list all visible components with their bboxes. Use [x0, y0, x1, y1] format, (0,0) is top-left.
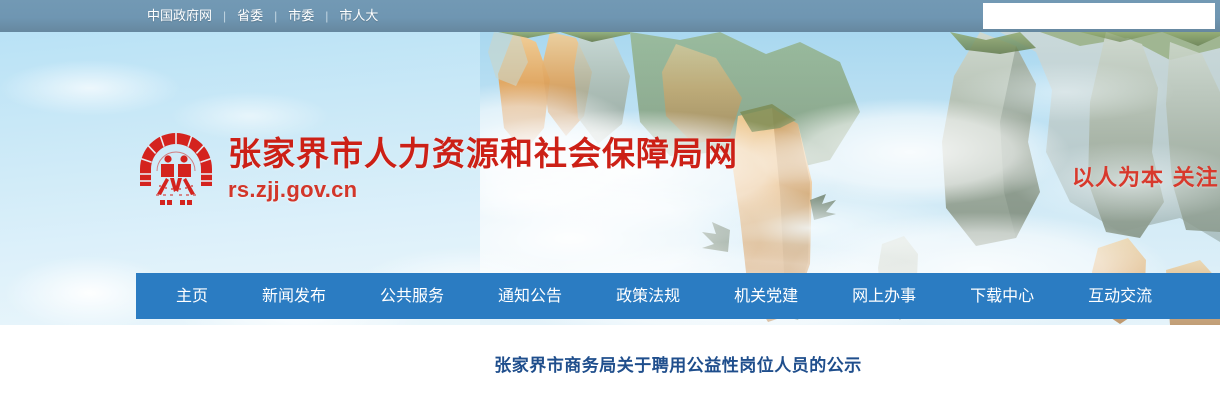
top-links-group: 中国政府网 | 省委 | 市委 | 市人大 — [136, 0, 389, 32]
main-navigation: 主页 新闻发布 公共服务 通知公告 政策法规 机关党建 网上办事 下载中心 互动… — [136, 273, 1220, 319]
brand-text-block: 张家界市人力资源和社会保障局网 rs.zjj.gov.cn — [228, 128, 738, 204]
top-link-municipal-npc[interactable]: 市人大 — [328, 0, 389, 32]
nav-item-public-service[interactable]: 公共服务 — [380, 273, 444, 319]
site-title: 张家界市人力资源和社会保障局网 — [228, 134, 738, 174]
nav-item-downloads[interactable]: 下载中心 — [970, 273, 1034, 319]
top-link-separator: | — [223, 0, 226, 32]
nav-item-party-building[interactable]: 机关党建 — [734, 273, 798, 319]
top-link-municipal-party[interactable]: 市委 — [277, 0, 325, 32]
nav-item-policies[interactable]: 政策法规 — [616, 273, 680, 319]
site-domain: rs.zjj.gov.cn — [228, 176, 738, 204]
content-panel: 张家界市商务局关于聘用公益性岗位人员的公示 — [136, 325, 1220, 400]
top-link-separator: | — [325, 0, 328, 32]
top-link-china-gov[interactable]: 中国政府网 — [136, 0, 223, 32]
nav-item-announcements[interactable]: 通知公告 — [498, 273, 562, 319]
article-title: 张家界市商务局关于聘用公益性岗位人员的公示 — [136, 351, 1220, 376]
site-banner: 张家界市人力资源和社会保障局网 rs.zjj.gov.cn 以人为本 关注 主页… — [0, 32, 1220, 325]
search-input[interactable] — [983, 3, 1215, 29]
banner-slogan: 以人为本 关注 — [1072, 160, 1219, 192]
nav-item-interaction[interactable]: 互动交流 — [1088, 273, 1152, 319]
nav-item-news[interactable]: 新闻发布 — [262, 273, 326, 319]
top-utility-bar: 中国政府网 | 省委 | 市委 | 市人大 — [0, 0, 1220, 32]
zhangjiajie-hrss-emblem-icon — [130, 128, 222, 220]
top-link-provincial-party[interactable]: 省委 — [226, 0, 274, 32]
top-link-separator: | — [274, 0, 277, 32]
brand-block[interactable]: 张家界市人力资源和社会保障局网 rs.zjj.gov.cn — [130, 128, 738, 220]
nav-item-home[interactable]: 主页 — [176, 273, 208, 319]
nav-item-online-services[interactable]: 网上办事 — [852, 273, 916, 319]
page-root: 中国政府网 | 省委 | 市委 | 市人大 — [0, 0, 1220, 400]
